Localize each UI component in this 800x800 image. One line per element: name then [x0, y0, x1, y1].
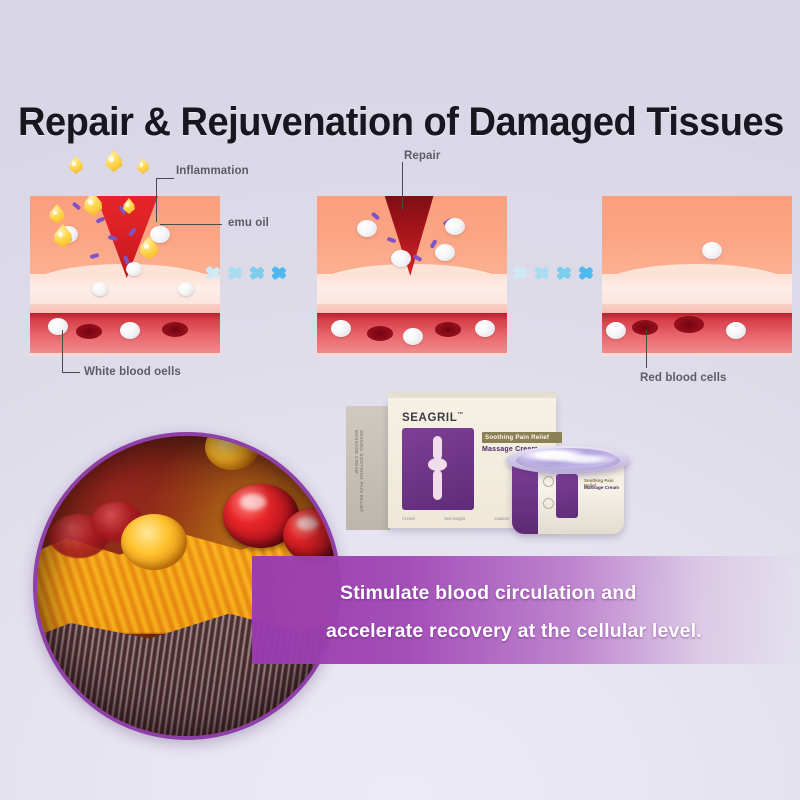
- white-blood-cell: [150, 226, 170, 243]
- emu-oil-droplet: [136, 158, 150, 174]
- infographic-canvas: Repair & Rejuvenation of Damaged Tissues: [0, 0, 800, 800]
- white-blood-cell: [435, 244, 455, 261]
- page-title: Repair & Rejuvenation of Damaged Tissues: [18, 100, 750, 145]
- progress-arrows-1: [205, 258, 290, 288]
- box-side-panel: SEAGRIL SOOTHING PAIN RELIEF MASSAGE CRE…: [346, 406, 390, 530]
- red-blood-cell: [674, 316, 704, 333]
- red-blood-cell: [162, 322, 188, 337]
- vessel-base: [317, 353, 507, 356]
- chevron-right-icon: [556, 258, 575, 288]
- vessel-base: [602, 353, 792, 356]
- footer-item: Net weight: [444, 516, 465, 521]
- diagram-panel-inflammation: [30, 196, 220, 356]
- white-blood-cell: [403, 328, 423, 345]
- chevron-right-icon: [271, 258, 290, 288]
- label-emu-oil: emu oil: [228, 217, 269, 229]
- label-repair: Repair: [404, 150, 440, 162]
- white-blood-cell: [331, 320, 351, 337]
- leader-line: [62, 372, 80, 373]
- white-blood-cell: [445, 218, 465, 235]
- banner-line-1: Stimulate blood circulation and: [340, 582, 637, 605]
- chevron-right-icon: [205, 258, 224, 288]
- leader-line: [156, 178, 174, 179]
- white-blood-cell: [126, 262, 142, 276]
- progress-arrows-2: [512, 258, 597, 288]
- white-blood-cell: [606, 322, 626, 339]
- brand-name: SEAGRIL™: [402, 412, 464, 424]
- leader-line: [646, 330, 647, 368]
- product-jar: SEAGRIL Soothing Pain Relief Massage Cre…: [506, 424, 630, 536]
- vessel-base: [30, 353, 220, 356]
- cream-gel-content: [520, 448, 616, 468]
- knee-illustration: [402, 428, 474, 510]
- chevron-right-icon: [578, 258, 597, 288]
- chevron-right-icon: [249, 258, 268, 288]
- white-blood-cell: [178, 282, 194, 296]
- knee-joint-icon: [425, 436, 451, 502]
- emu-oil-droplet: [68, 156, 84, 174]
- white-blood-cell: [48, 318, 68, 335]
- red-blood-cell: [76, 324, 102, 339]
- diagram-panel-healed: [602, 196, 792, 356]
- benefit-banner: Stimulate blood circulation and accelera…: [252, 556, 800, 664]
- diagram-panel-repair: [317, 196, 507, 356]
- red-blood-cell: [632, 320, 658, 335]
- label-red-blood-cells: Red blood cells: [640, 372, 727, 384]
- product-packaging: SEAGRIL SOOTHING PAIN RELIEF MASSAGE CRE…: [346, 392, 646, 542]
- femur-shape: [433, 436, 442, 460]
- trademark-symbol: ™: [457, 412, 464, 418]
- jar-subhead: Massage Cream: [584, 485, 620, 490]
- dermis-layer: [317, 274, 507, 306]
- leader-line: [62, 330, 63, 372]
- footer-item: Cream: [402, 516, 415, 521]
- dermis-layer: [602, 274, 792, 306]
- leader-line: [160, 224, 222, 225]
- brand-text: SEAGRIL: [402, 412, 457, 424]
- jar-seal-icon: [543, 476, 554, 487]
- jar-seal-icon: [543, 498, 554, 509]
- red-blood-cell: [435, 322, 461, 337]
- leader-line: [402, 162, 403, 210]
- white-blood-cell: [391, 250, 411, 267]
- chevron-right-icon: [534, 258, 553, 288]
- white-blood-cell: [726, 322, 746, 339]
- emu-oil-droplet: [104, 150, 124, 172]
- tibia-shape: [433, 470, 442, 500]
- box-side-text: SEAGRIL SOOTHING PAIN RELIEF MASSAGE CRE…: [354, 430, 364, 530]
- red-blood-cell: [367, 326, 393, 341]
- epidermis-layer: [602, 196, 792, 274]
- white-blood-cell: [475, 320, 495, 337]
- banner-line-2: accelerate recovery at the cellular leve…: [326, 620, 702, 643]
- chevron-right-icon: [227, 258, 246, 288]
- leader-line: [156, 178, 157, 222]
- white-blood-cell: [357, 220, 377, 237]
- white-blood-cell: [702, 242, 722, 259]
- jar-knee-illustration: [556, 474, 578, 518]
- white-blood-cell: [92, 282, 108, 296]
- white-blood-cell: [120, 322, 140, 339]
- label-inflammation: Inflammation: [176, 165, 249, 177]
- chevron-right-icon: [512, 258, 531, 288]
- label-white-blood-cells: White blood oells: [84, 366, 181, 378]
